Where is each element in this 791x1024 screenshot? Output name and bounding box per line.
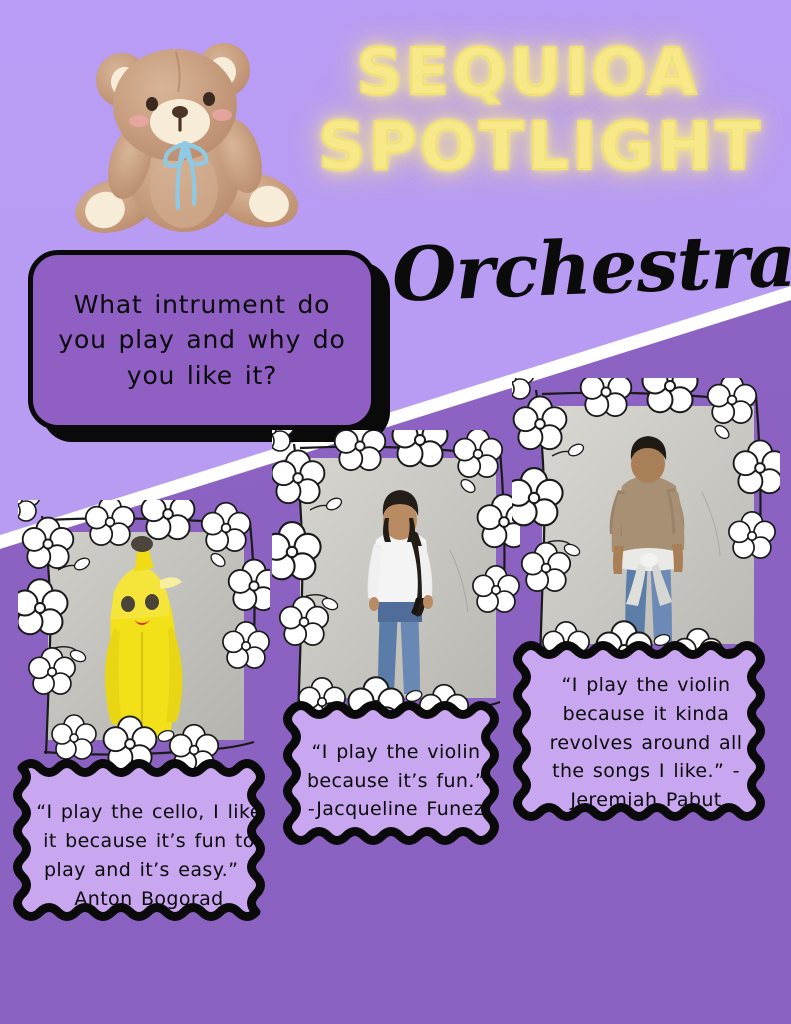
quote-jeremiah-pabut: “I play the violin because it kinda revo… bbox=[512, 640, 780, 846]
question-box: What intrument do you play and why do yo… bbox=[28, 250, 376, 430]
quote-text-1: “I play the cello, I like it because it’… bbox=[34, 774, 264, 938]
poster-canvas: SEQUIOA SPOTLIGHT Orchestra What intrume… bbox=[0, 0, 791, 1024]
quote-text-3: “I play the violin because it kinda revo… bbox=[534, 654, 758, 832]
quote-anton-bogorad: “I play the cello, I like it because it’… bbox=[12, 758, 286, 954]
quote-jacqueline-funez: “I play the violin because it’s fun.” -J… bbox=[282, 700, 510, 862]
question-text: What intrument do you play and why do yo… bbox=[33, 287, 371, 394]
cherry-blossom-frame-2 bbox=[272, 430, 520, 730]
teddy-bear-icon bbox=[72, 22, 304, 250]
cherry-blossom-frame-1 bbox=[18, 500, 270, 768]
quote-text-2: “I play the violin because it’s fun.” -J… bbox=[302, 712, 490, 850]
photo-banana-costume bbox=[18, 500, 270, 768]
photo-girl-braid bbox=[272, 430, 520, 730]
poster-subtitle: Orchestra bbox=[391, 225, 754, 313]
photo-boy-khaki bbox=[512, 378, 780, 678]
cherry-blossom-frame-3 bbox=[512, 378, 780, 678]
